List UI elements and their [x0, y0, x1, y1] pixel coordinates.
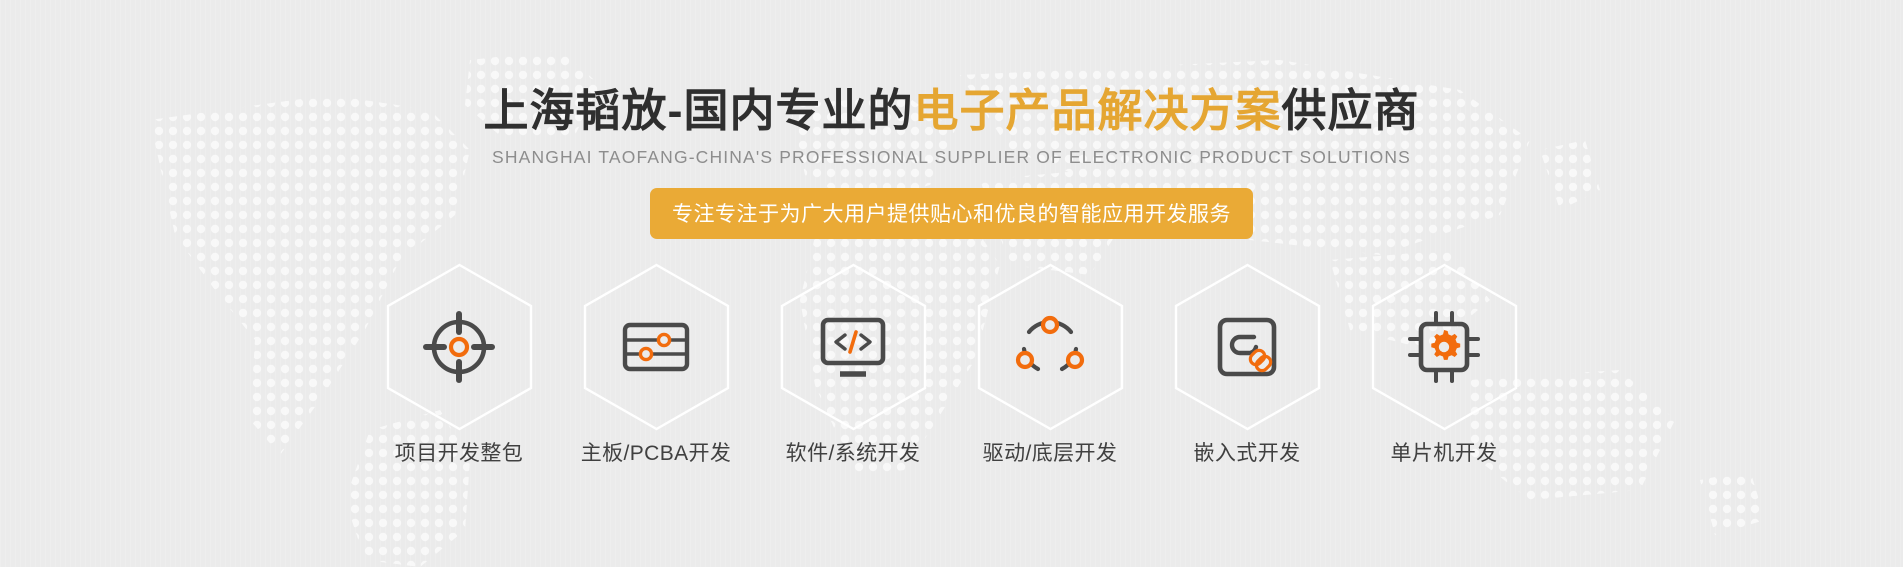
tagline-badge: 专注专注于为广大用户提供贴心和优良的智能应用开发服务	[650, 188, 1253, 239]
feature-item-embedded[interactable]: 嵌入式开发	[1170, 261, 1325, 467]
headline-accent: 电子产品解决方案	[913, 85, 1281, 136]
feature-label: 主板/PCBA开发	[581, 437, 732, 467]
feature-item-driver-lowlevel[interactable]: 驱动/底层开发	[973, 261, 1128, 467]
feature-label: 软件/系统开发	[786, 437, 921, 467]
hexagon-frame	[1367, 261, 1522, 433]
headline-prefix: 上海韬放-国内专业的	[483, 85, 913, 136]
banner-content: 上海韬放-国内专业的电子产品解决方案供应商 SHANGHAI TAOFANG-C…	[0, 0, 1903, 567]
feature-label: 驱动/底层开发	[983, 437, 1118, 467]
hexagon-frame	[579, 261, 734, 433]
hexagon-frame	[1170, 261, 1325, 433]
pcb-board-icon	[619, 310, 693, 384]
hexagon-frame	[973, 261, 1128, 433]
monitor-code-icon	[816, 310, 890, 384]
hero-banner: 上海韬放-国内专业的电子产品解决方案供应商 SHANGHAI TAOFANG-C…	[0, 0, 1903, 567]
hexagon-frame	[382, 261, 537, 433]
hexagon-frame	[776, 261, 931, 433]
subtitle-english: SHANGHAI TAOFANG-CHINA'S PROFESSIONAL SU…	[492, 147, 1411, 168]
feature-label: 单片机开发	[1391, 437, 1498, 467]
feature-item-project-package[interactable]: 项目开发整包	[382, 261, 537, 467]
crosshair-target-icon	[422, 310, 496, 384]
feature-item-mcu[interactable]: 单片机开发	[1367, 261, 1522, 467]
page-title: 上海韬放-国内专业的电子产品解决方案供应商	[483, 86, 1419, 136]
mcu-gear-icon	[1407, 310, 1481, 384]
embedded-chiplink-icon	[1210, 310, 1284, 384]
headline-suffix: 供应商	[1282, 85, 1420, 136]
feature-item-software-system[interactable]: 软件/系统开发	[776, 261, 931, 467]
node-network-icon	[1013, 310, 1087, 384]
feature-label: 项目开发整包	[395, 437, 523, 467]
feature-list: 项目开发整包	[382, 261, 1522, 467]
feature-label: 嵌入式开发	[1194, 437, 1301, 467]
feature-item-pcba[interactable]: 主板/PCBA开发	[579, 261, 734, 467]
